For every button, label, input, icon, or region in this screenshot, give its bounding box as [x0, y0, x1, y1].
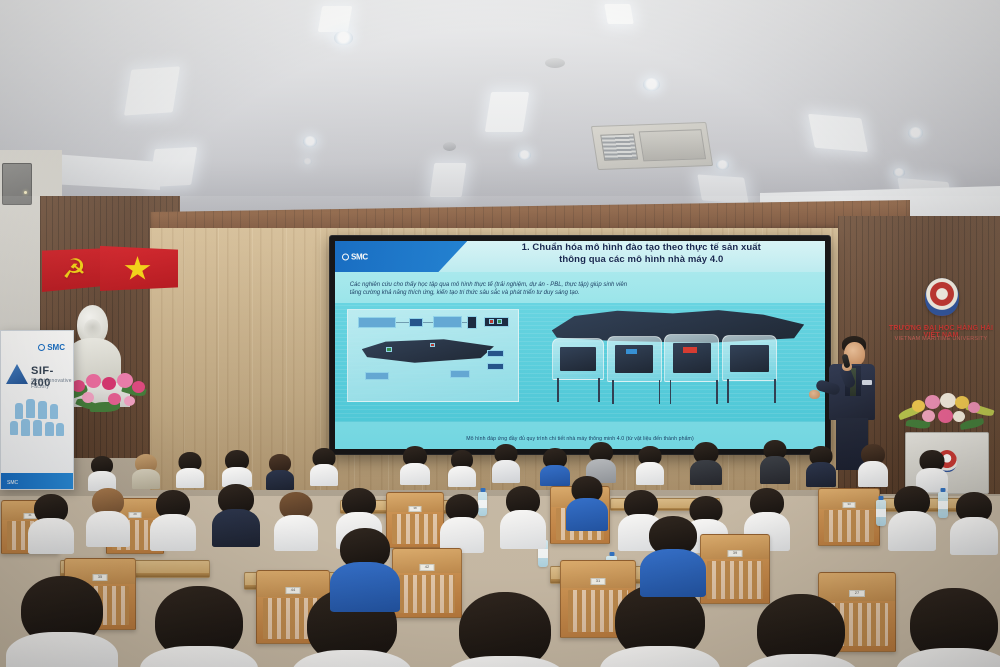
slide-body-line2: tăng cường khả năng thích ứng, kiến tạo … [350, 289, 811, 298]
flower-arrangement-left [64, 366, 150, 418]
speaker-led-icon [24, 191, 27, 194]
standee-figure [50, 404, 58, 419]
slide-surface: SMC 1. Chuẩn hóa mô hình đào tạo theo th… [335, 241, 825, 449]
audience-member [896, 588, 1000, 667]
standee-figure [45, 422, 54, 436]
module-indicator [683, 347, 697, 352]
flower-bloom [953, 411, 965, 422]
flower-bloom [124, 396, 135, 406]
led-presentation-screen: SMC 1. Chuẩn hóa mô hình đào tạo theo th… [330, 236, 830, 454]
audience-member [444, 592, 566, 667]
torso [640, 549, 706, 597]
slide-factory-modules [541, 306, 815, 415]
audience-member [742, 594, 860, 667]
standee-figure [15, 403, 23, 419]
module-internals [730, 345, 768, 372]
flower-bloom [132, 381, 145, 393]
module-leg [598, 378, 600, 402]
smc-brand-label: SMC [351, 252, 368, 261]
smc-logo: SMC [342, 252, 368, 261]
torso [292, 650, 412, 667]
diagram-block [487, 363, 504, 370]
audience-member [140, 586, 258, 667]
standee-figure [38, 401, 47, 419]
module-leg [716, 380, 718, 404]
diagram-block [358, 317, 395, 329]
torso [896, 648, 1000, 667]
standee-smc-logo: SMC [38, 343, 65, 352]
standee-triangle-logo-icon [6, 364, 28, 384]
torso [330, 562, 400, 612]
flower-bloom [922, 410, 935, 422]
module-leg [774, 379, 776, 403]
diagram-indicator [497, 319, 502, 324]
audience-front-row [0, 530, 1000, 667]
diagram-block [365, 372, 389, 380]
module-leg [612, 380, 614, 404]
slide-process-diagram [347, 309, 519, 401]
flower-bloom [940, 393, 956, 408]
yellow-star-icon [124, 256, 151, 282]
module-leg [670, 380, 672, 404]
torso [566, 498, 608, 531]
bust-face-shadow [84, 319, 101, 339]
torso [742, 654, 860, 667]
hammer-sickle-icon: ☭ [62, 256, 86, 283]
vietnam-flag [100, 245, 178, 291]
standee-figure [21, 419, 30, 436]
flower-bloom [925, 395, 940, 409]
standee-figure [56, 423, 64, 436]
audience-member [566, 476, 608, 530]
university-emblem-icon [925, 278, 959, 316]
flower-bloom [86, 374, 101, 388]
flower-arrangement-right [898, 390, 994, 438]
slide-title: 1. Chuẩn hóa mô hình đào tạo theo thực t… [467, 242, 815, 266]
flower-bloom [117, 373, 133, 388]
diagram-block [409, 318, 423, 327]
module-indicator [626, 349, 637, 353]
presenter-left-hand [809, 390, 820, 399]
diagram-indicator [489, 319, 494, 324]
standee-brand-label: SMC [47, 343, 65, 352]
standee-figure [33, 420, 42, 436]
diagram-connector [396, 322, 410, 323]
audience-member [6, 576, 118, 667]
module-leg [659, 380, 661, 404]
smc-ring-icon [38, 344, 45, 351]
slide-body-text: Các nghiên cứu cho thấy học tập qua mô h… [350, 281, 811, 298]
diagram-connector [462, 322, 467, 323]
flower-bloom [938, 409, 953, 423]
slide-title-line1: 1. Chuẩn hóa mô hình đào tạo theo thực t… [467, 242, 815, 254]
diagram-block [467, 316, 477, 330]
flower-bloom [968, 402, 980, 413]
smc-ring-icon [342, 253, 349, 260]
flower-bloom [82, 392, 94, 403]
diagram-indicator [386, 347, 393, 352]
module-internals [560, 347, 596, 371]
diagram-connector [423, 322, 433, 323]
slide-title-line2: thông qua các mô hình nhà máy 4.0 [467, 254, 815, 266]
slide-header-band: SMC 1. Chuẩn hóa mô hình đào tạo theo th… [335, 241, 825, 272]
flower-bloom [955, 396, 969, 409]
slide-illustration-area [335, 303, 825, 422]
presenter-name-badge [862, 380, 872, 385]
standee-tagline: Smart Innovative Factory [31, 378, 73, 390]
diagram-block [487, 350, 504, 357]
flower-bloom [912, 400, 925, 412]
diagram-block [450, 370, 470, 378]
standee-figure [26, 399, 35, 418]
module-leg [557, 378, 559, 402]
torso [444, 656, 566, 667]
audience-member-blue-shirt [330, 528, 400, 608]
torso [600, 646, 720, 667]
diagram-production-line [362, 339, 494, 363]
diagram-indicator [430, 343, 435, 348]
standee-figure [10, 421, 18, 435]
university-name-en: VIETNAM MARITIME UNIVERSITY [882, 336, 1000, 342]
module-leg [727, 379, 729, 403]
audience-member-blue-shirt [640, 516, 706, 594]
torso [140, 646, 258, 667]
diagram-block [433, 316, 462, 329]
flower-bloom [102, 377, 116, 390]
slide-body-line1: Các nghiên cứu cho thấy học tập qua mô h… [350, 281, 811, 290]
torso [6, 632, 118, 667]
conference-hall-photo: ☭ SMC SIF-400 Smart Innovative Factory [0, 0, 1000, 667]
flower-bloom [108, 393, 121, 405]
